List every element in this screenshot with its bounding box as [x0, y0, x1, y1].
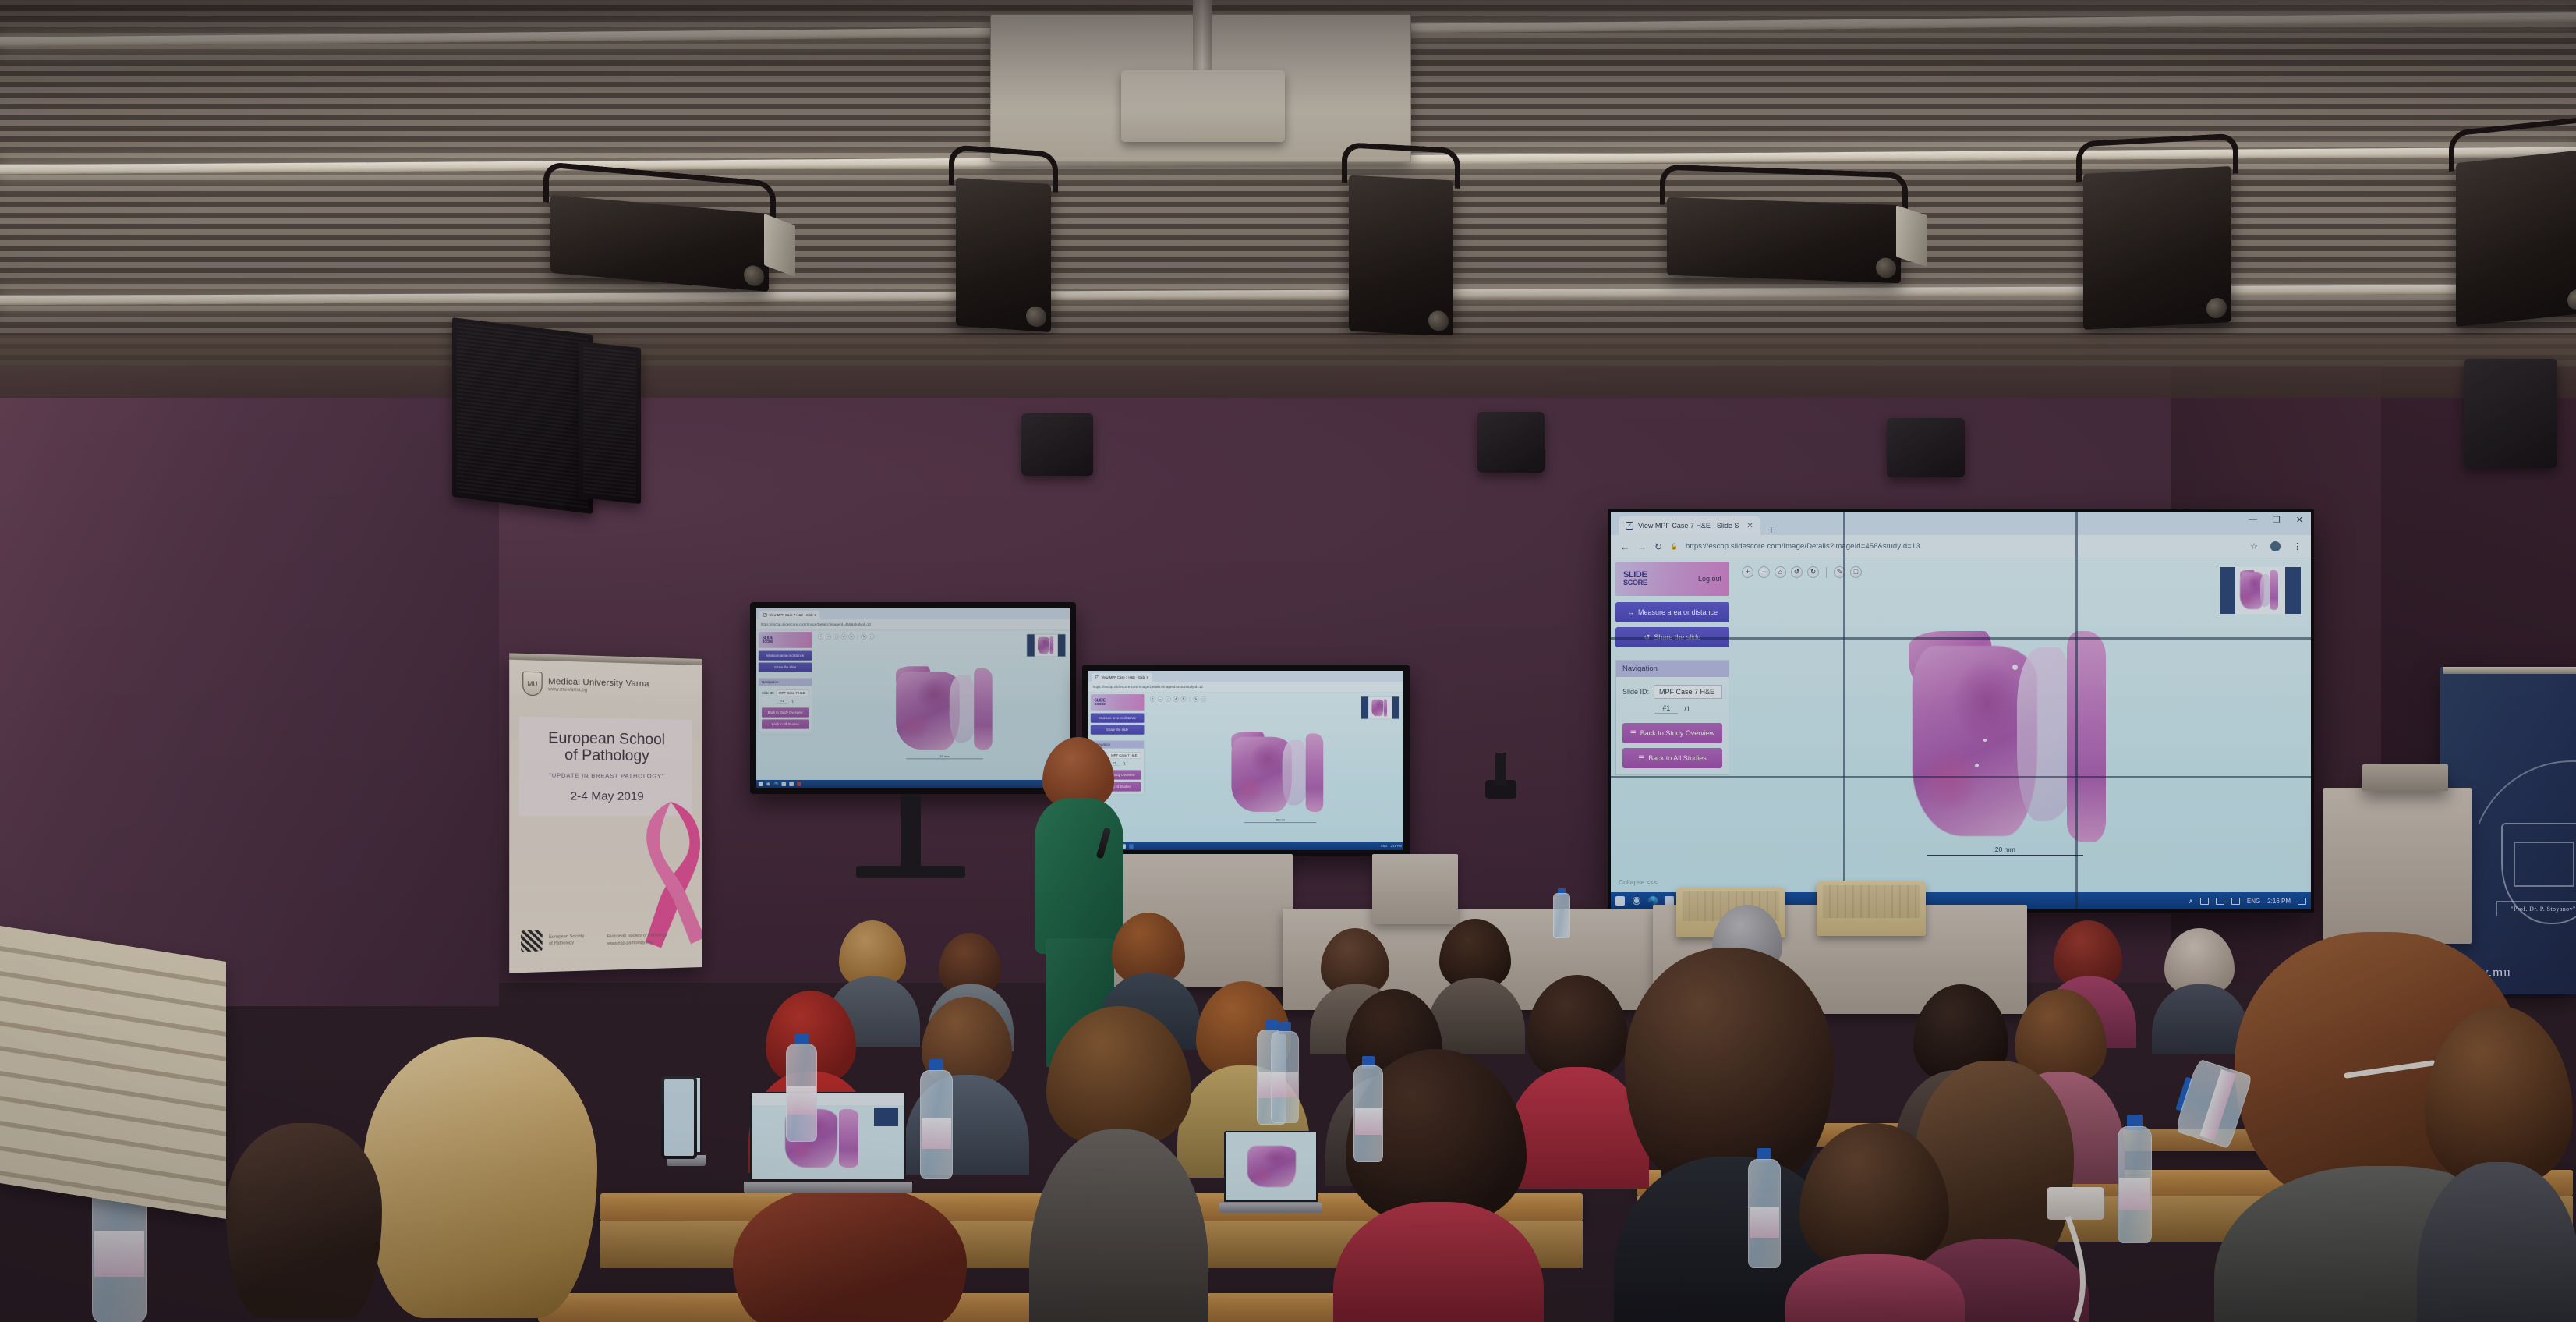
- tray-clock[interactable]: 2:16 PM: [2267, 898, 2291, 905]
- histology-slide-canvas[interactable]: 20 mm: [1734, 558, 2311, 892]
- scale-bar-line: [1927, 855, 2083, 856]
- back-icon[interactable]: ←: [1620, 541, 1629, 552]
- slide-id-label: Slide ID:: [1622, 688, 1649, 696]
- center-monitor-screen: ✓View MPF Case 7 H&E - Slide S https://e…: [1088, 671, 1403, 850]
- esp-society-logo-icon: [521, 930, 543, 952]
- slide-viewer[interactable]: + − ⌂ ↺ ↻ ✎ □: [1734, 558, 2311, 892]
- back-studies-label: Back to All Studies: [1648, 754, 1707, 762]
- tray-language-badge[interactable]: ENG: [2247, 898, 2260, 905]
- tray-tool-icon[interactable]: [2200, 898, 2209, 905]
- stage-spotlight-3: [1349, 175, 1453, 336]
- audience-member-r1-redhair: [733, 1186, 967, 1322]
- measure-button[interactable]: ↔ Measure area or distance: [1615, 602, 1729, 622]
- water-bottle-6[interactable]: [1353, 1065, 1383, 1162]
- navigation-panel: Navigation Slide ID: MPF Case 7 H&E #1 /…: [1615, 660, 1729, 775]
- mu-crest-icon: MU: [522, 672, 542, 696]
- audience-member-r1-man: [1029, 1006, 1208, 1322]
- slidescore-logo: SLIDE SCORE: [1623, 571, 1647, 586]
- tab-close-icon[interactable]: ✕: [1746, 522, 1753, 530]
- collapse-sidebar-button[interactable]: Collapse <<<: [1619, 878, 1658, 886]
- held-phone[interactable]: [661, 1076, 697, 1159]
- back-to-all-studies-button[interactable]: ☰ Back to All Studies: [1622, 748, 1722, 768]
- esp-society-logo-block: European Society of Pathology: [521, 929, 584, 952]
- wall-speaker-left-side: [579, 342, 641, 504]
- presenter-chair-2[interactable]: [1817, 881, 1926, 936]
- camera-mount: [1495, 753, 1506, 785]
- tissue-section: [1913, 635, 2120, 842]
- left-monitor-stand: [901, 794, 921, 872]
- scale-bar: 20 mm: [1927, 845, 2083, 856]
- ceiling-speaker-a: [1021, 413, 1093, 476]
- mu-banner-roller: [2443, 667, 2576, 674]
- browser-tab[interactable]: ✓ View MPF Case 7 H&E - Slide S ✕: [1619, 516, 1760, 535]
- brand-line-2: SCORE: [1623, 579, 1647, 587]
- ceiling-speaker-c: [1887, 418, 1965, 477]
- tab-title: View MPF Case 7 H&E - Slide S: [1638, 522, 1739, 530]
- navigation-header: Navigation: [1616, 661, 1729, 677]
- slidescore-brand-bar: SLIDE SCORE Log out: [1615, 562, 1729, 596]
- right-wall-speaker: [2464, 359, 2557, 468]
- videowall-bezel-vertical-1: [1843, 512, 1845, 909]
- studies-list-icon: ☰: [1638, 754, 1644, 763]
- profile-avatar-icon[interactable]: [2270, 541, 2281, 551]
- charger-cable: [2058, 1214, 2214, 1322]
- stage-spotlight-2: [956, 178, 1051, 333]
- measure-icon: ↔: [1627, 608, 1634, 616]
- mirror-tab-title: View MPF Case 7 H&E - Slide S: [769, 613, 816, 617]
- slide-pager: #1 /1: [1622, 704, 1722, 714]
- scale-bar-label: 20 mm: [1927, 845, 2083, 853]
- browser-menu-icon[interactable]: ⋮: [2293, 541, 2302, 551]
- water-bottle-5[interactable]: [1271, 1031, 1299, 1123]
- tray-chevron-icon[interactable]: ∧: [2189, 898, 2193, 905]
- start-icon[interactable]: [1615, 896, 1625, 906]
- study-list-icon: ☰: [1630, 729, 1637, 738]
- bookmark-star-icon[interactable]: ☆: [2250, 541, 2258, 551]
- desk-row-nearest: [538, 1293, 1396, 1322]
- lock-icon: 🔒: [1670, 543, 1678, 550]
- esp-title-line2: of Pathology: [528, 746, 685, 765]
- url-text[interactable]: https://escop.slidescore.com/Image/Detai…: [1686, 542, 1920, 551]
- mu-header: MU Medical University Varna www.mu-varna…: [509, 671, 702, 700]
- logout-button[interactable]: Log out: [1698, 575, 1721, 583]
- slidescore-browser-window[interactable]: ✓ View MPF Case 7 H&E - Slide S ✕ + — ❐ …: [1611, 512, 2311, 909]
- upper-wall-band: [0, 335, 2576, 398]
- window-controls: — ❐ ✕: [2249, 515, 2303, 525]
- window-maximize-icon[interactable]: ❐: [2273, 515, 2281, 525]
- esp-society-right-block: European Society of Pathology www.esp-pa…: [607, 932, 667, 948]
- tab-favicon: ✓: [1626, 522, 1633, 530]
- slidescore-sidebar: SLIDE SCORE Log out ↔ Measure area or di…: [1611, 558, 1734, 892]
- system-tray: ∧ ENG 2:16 PM: [2189, 898, 2306, 905]
- videowall-bezel-horizontal-1: [1611, 637, 2311, 640]
- cabinet-top: [2362, 764, 2448, 791]
- window-close-icon[interactable]: ✕: [2296, 515, 2303, 525]
- esp-rollup-banner: MU Medical University Varna www.mu-varna…: [509, 653, 702, 973]
- reload-icon[interactable]: ↻: [1654, 541, 1662, 552]
- water-bottle-2[interactable]: [786, 1044, 817, 1142]
- left-monitor-base: [856, 866, 965, 878]
- lectern-box: [1372, 854, 1458, 924]
- audience-member-r1-blonde: [343, 1037, 624, 1322]
- videowall-bezel-horizontal-2: [1611, 776, 2311, 778]
- center-wall-monitor[interactable]: ✓View MPF Case 7 H&E - Slide S https://e…: [1082, 665, 1410, 856]
- back-to-study-overview-button[interactable]: ☰ Back to Study Overview: [1622, 723, 1722, 743]
- mirror2-url: https://escop.slidescore.com/Image/Detai…: [1093, 685, 1203, 689]
- slide-page-total: /1: [1684, 705, 1690, 713]
- audience-laptop-2[interactable]: [750, 1092, 906, 1193]
- stage-spotlight-6: [2456, 149, 2576, 327]
- tray-notifications-icon[interactable]: [2298, 898, 2306, 905]
- water-bottle-3[interactable]: [920, 1070, 953, 1179]
- tray-network-icon[interactable]: [2231, 898, 2240, 905]
- pink-ribbon-icon: [635, 796, 702, 954]
- cortana-icon[interactable]: [1632, 896, 1641, 906]
- forward-icon[interactable]: →: [1637, 541, 1647, 552]
- audience-member-r1-far-right: [2417, 1006, 2576, 1322]
- new-tab-icon[interactable]: +: [1768, 524, 1775, 535]
- mirror-url: https://escop.slidescore.com/Image/Detai…: [761, 622, 871, 626]
- esp-society-line2: of Pathology: [549, 940, 584, 948]
- tray-keyboard-icon[interactable]: [2216, 898, 2224, 905]
- video-wall-surface: ✓ View MPF Case 7 H&E - Slide S ✕ + — ❐ …: [1611, 512, 2311, 909]
- ceiling-speaker-b: [1477, 412, 1545, 473]
- mirror2-tab-title: View MPF Case 7 H&E - Slide S: [1101, 675, 1148, 679]
- audience-member-r1-darkhair: [226, 1123, 382, 1322]
- main-video-wall[interactable]: ✓ View MPF Case 7 H&E - Slide S ✕ + — ❐ …: [1608, 509, 2314, 913]
- measure-label: Measure area or distance: [1638, 608, 1718, 616]
- stage-spotlight-5: [2083, 166, 2231, 330]
- back-study-label: Back to Study Overview: [1640, 729, 1715, 737]
- lecture-hall-scene: ✓View MPF Case 7 H&E - Slide S https://e…: [0, 0, 2576, 1322]
- slide-id-row: Slide ID: MPF Case 7 H&E: [1622, 685, 1722, 699]
- navigation-body: Slide ID: MPF Case 7 H&E #1 /1 ☰ Back to…: [1616, 677, 1729, 774]
- audience-laptop-3[interactable]: [1224, 1131, 1318, 1213]
- left-monitor-screen: ✓View MPF Case 7 H&E - Slide S https://e…: [756, 608, 1070, 788]
- browser-address-bar[interactable]: ← → ↻ 🔒 https://escop.slidescore.com/Ima…: [1611, 535, 2311, 558]
- slide-page-current[interactable]: #1: [1654, 704, 1678, 714]
- wall-speaker-left: [452, 317, 593, 514]
- mu-banner-motto: "Prof. Dr. P. Stoyanov": [2496, 901, 2576, 916]
- equipment-cabinet: [2323, 788, 2472, 944]
- water-bottle-7[interactable]: [1748, 1159, 1781, 1268]
- esp-subtitle: "UPDATE IN BREAST PATHOLOGY": [528, 771, 685, 780]
- videowall-bezel-vertical-2: [2075, 512, 2078, 909]
- esp-title-line1: European School: [528, 729, 685, 749]
- slidescore-app: SLIDE SCORE Log out ↔ Measure area or di…: [1611, 558, 2311, 892]
- left-window-blinds: [0, 926, 226, 1219]
- stage-spotlight-4: [1667, 197, 1901, 283]
- browser-tab-strip: ✓ View MPF Case 7 H&E - Slide S ✕ + — ❐ …: [1611, 512, 2311, 535]
- slide-id-input[interactable]: MPF Case 7 H&E: [1654, 685, 1722, 699]
- audience-member-r1-pink: [1785, 1123, 1965, 1322]
- water-bottle-front-desk[interactable]: [1553, 893, 1570, 938]
- window-minimize-icon[interactable]: —: [2249, 515, 2257, 525]
